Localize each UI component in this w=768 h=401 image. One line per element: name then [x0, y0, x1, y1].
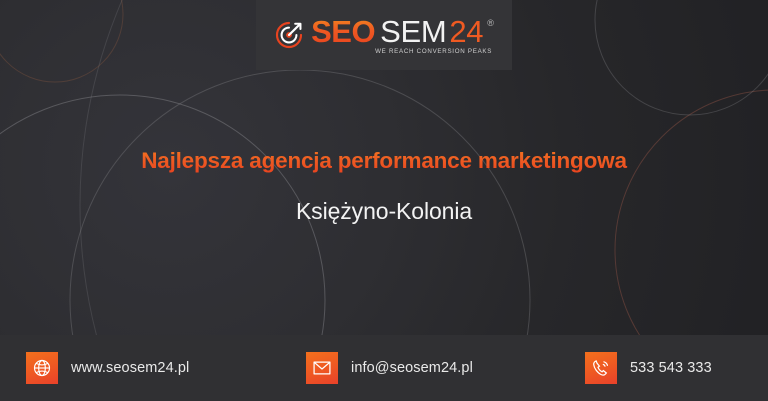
phone-text: 533 543 333	[630, 360, 712, 376]
logo-tagline: WE REACH CONVERSION PEAKS	[375, 48, 494, 55]
website-text: www.seosem24.pl	[71, 360, 189, 376]
decor-circle-topleft-red	[0, 0, 123, 82]
target-arrow-icon	[274, 20, 304, 50]
page-title: Najlepsza agencja performance marketingo…	[0, 148, 768, 174]
logo-wordmark-top: SEO SEM 24 ®	[311, 16, 494, 47]
poster-canvas: SEO SEM 24 ® WE REACH CONVERSION PEAKS N…	[0, 0, 768, 401]
contact-website[interactable]: www.seosem24.pl	[26, 352, 189, 384]
logo-wordmark: SEO SEM 24 ® WE REACH CONVERSION PEAKS	[311, 16, 494, 55]
logo-band[interactable]: SEO SEM 24 ® WE REACH CONVERSION PEAKS	[256, 0, 512, 70]
decor-circle-topright-gray	[595, 0, 768, 115]
logo-text-sem: SEM	[380, 16, 446, 47]
phone-icon	[585, 352, 617, 384]
registered-trademark-icon: ®	[487, 19, 494, 28]
logo-text-seo: SEO	[311, 16, 375, 47]
contact-email[interactable]: info@seosem24.pl	[306, 352, 473, 384]
logo[interactable]: SEO SEM 24 ® WE REACH CONVERSION PEAKS	[274, 16, 494, 55]
contact-phone[interactable]: 533 543 333	[585, 352, 712, 384]
logo-text-24: 24	[449, 16, 483, 47]
contact-footer: www.seosem24.pl info@seosem24.pl 533 543…	[0, 335, 768, 401]
page-subtitle: Księżyno-Kolonia	[0, 198, 768, 225]
email-text: info@seosem24.pl	[351, 360, 473, 376]
globe-icon	[26, 352, 58, 384]
envelope-icon	[306, 352, 338, 384]
